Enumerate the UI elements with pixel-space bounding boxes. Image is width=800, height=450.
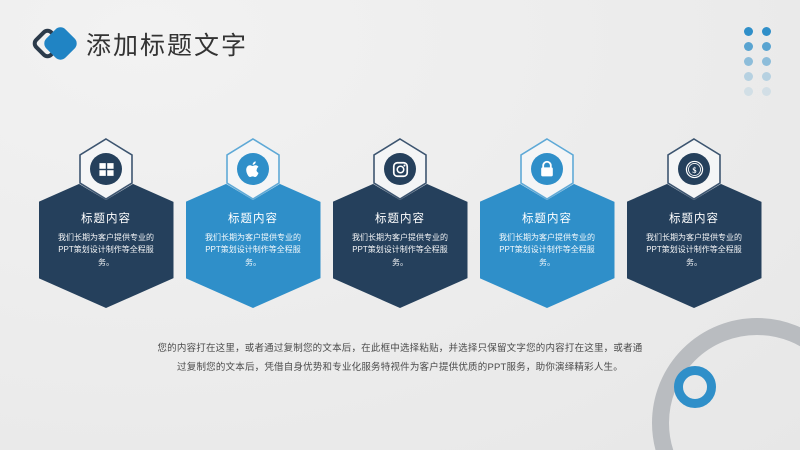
dot-grid-decoration bbox=[744, 27, 780, 102]
page-title: 添加标题文字 bbox=[86, 26, 248, 62]
footer-paragraph-line-2: 过复制您的文本后，凭借自身优势和专业化服务特视件为客户提供优质的PPT服务，助你… bbox=[100, 359, 700, 378]
diamond-logo bbox=[32, 24, 80, 64]
footer-paragraph: 您的内容打在这里，或者通过复制您的文本后，在此框中选择粘贴，并选择只保留文字您的… bbox=[0, 340, 800, 377]
card-description: 我们长期为客户提供专业的PPT策划设计制作等全程服务。 bbox=[493, 232, 601, 269]
card-description: 我们长期为客户提供专业的PPT策划设计制作等全程服务。 bbox=[199, 232, 307, 269]
card-description: 我们长期为客户提供专业的PPT策划设计制作等全程服务。 bbox=[346, 232, 454, 269]
decorative-dot bbox=[744, 42, 753, 51]
card-description: 我们长期为客户提供专业的PPT策划设计制作等全程服务。 bbox=[52, 232, 160, 269]
hexagon-card[interactable]: 标题内容我们长期为客户提供专业的PPT策划设计制作等全程服务。 bbox=[480, 138, 615, 308]
card-title: 标题内容 bbox=[81, 210, 131, 226]
apple-icon bbox=[237, 153, 269, 185]
decorative-dot bbox=[744, 57, 753, 66]
decorative-dot bbox=[762, 42, 771, 51]
hexagon-card[interactable]: 标题内容我们长期为客户提供专业的PPT策划设计制作等全程服务。 bbox=[186, 138, 321, 308]
card-title: 标题内容 bbox=[522, 210, 572, 226]
icon-badge bbox=[373, 138, 427, 200]
slide-canvas: 添加标题文字 标题内容我们长期为客户提供专业的PPT策划设计制作等全程服务。标题… bbox=[0, 0, 800, 450]
decorative-dot bbox=[762, 72, 771, 81]
instagram-icon bbox=[384, 153, 416, 185]
slide-header: 添加标题文字 bbox=[32, 24, 248, 64]
card-title: 标题内容 bbox=[228, 210, 278, 226]
windows-icon bbox=[90, 153, 122, 185]
footer-paragraph-line-1: 您的内容打在这里，或者通过复制您的文本后，在此框中选择粘贴，并选择只保留文字您的… bbox=[90, 340, 710, 359]
hexagon-card-row: 标题内容我们长期为客户提供专业的PPT策划设计制作等全程服务。标题内容我们长期为… bbox=[0, 138, 800, 308]
hexagon-card[interactable]: 标题内容我们长期为客户提供专业的PPT策划设计制作等全程服务。 bbox=[39, 138, 174, 308]
dollar-coin-icon: $ bbox=[678, 153, 710, 185]
decorative-dot bbox=[744, 87, 753, 96]
svg-text:$: $ bbox=[692, 165, 696, 174]
lock-icon bbox=[531, 153, 563, 185]
icon-badge bbox=[79, 138, 133, 200]
decorative-dot bbox=[762, 87, 771, 96]
card-description: 我们长期为客户提供专业的PPT策划设计制作等全程服务。 bbox=[640, 232, 748, 269]
decorative-dot bbox=[744, 72, 753, 81]
icon-badge bbox=[226, 138, 280, 200]
hexagon-card[interactable]: $标题内容我们长期为客户提供专业的PPT策划设计制作等全程服务。 bbox=[627, 138, 762, 308]
icon-badge: $ bbox=[667, 138, 721, 200]
hexagon-card[interactable]: 标题内容我们长期为客户提供专业的PPT策划设计制作等全程服务。 bbox=[333, 138, 468, 308]
decorative-dot bbox=[762, 57, 771, 66]
decorative-dot bbox=[762, 27, 771, 36]
decorative-dot bbox=[744, 27, 753, 36]
card-title: 标题内容 bbox=[375, 210, 425, 226]
card-title: 标题内容 bbox=[669, 210, 719, 226]
icon-badge bbox=[520, 138, 574, 200]
